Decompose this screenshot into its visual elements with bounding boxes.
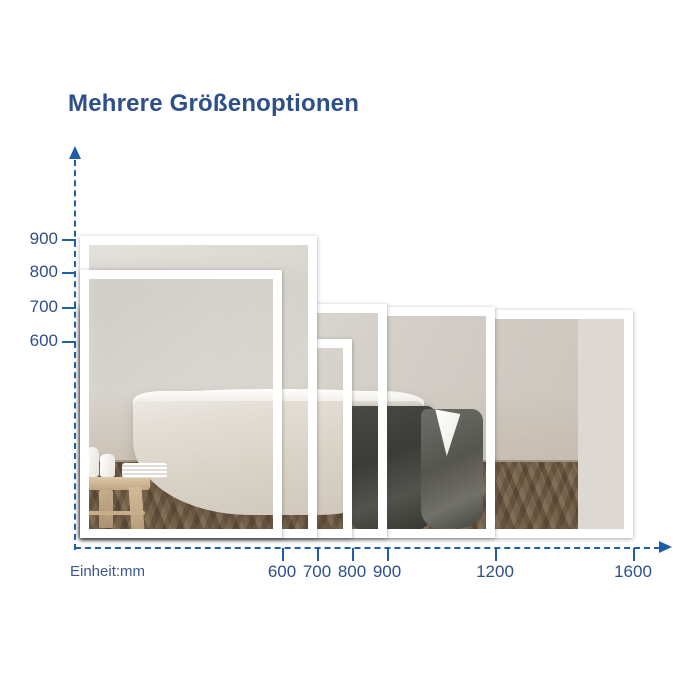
x-tick-1200 — [495, 548, 497, 561]
bathroom-photo — [89, 279, 273, 529]
page-title: Mehrere Größenoptionen — [68, 90, 359, 118]
unit-label: Einheit:mm — [70, 563, 145, 580]
x-tick-1600 — [633, 548, 635, 561]
y-label-800: 800 — [0, 262, 58, 282]
x-tick-900 — [387, 548, 389, 561]
x-label-1600: 1600 — [603, 562, 663, 582]
x-tick-800 — [352, 548, 354, 561]
y-tick-700 — [62, 307, 76, 309]
y-label-600: 600 — [0, 331, 58, 351]
photo-bottle — [100, 454, 115, 477]
photo-stool-leg — [99, 490, 112, 527]
y-axis — [74, 160, 76, 550]
y-tick-600 — [62, 341, 76, 343]
y-axis-arrow-icon — [69, 146, 81, 159]
photo-bottle — [89, 447, 99, 477]
x-tick-600 — [282, 548, 284, 561]
y-tick-900 — [62, 239, 76, 241]
y-tick-800 — [62, 272, 76, 274]
x-label-1200: 1200 — [465, 562, 525, 582]
diagram-canvas: Mehrere Größenoptionen — [0, 0, 700, 700]
panel-photo-600 — [89, 279, 273, 529]
y-label-700: 700 — [0, 297, 58, 317]
x-axis-arrow-icon — [659, 541, 672, 553]
panel-600x800[interactable] — [80, 270, 282, 538]
y-label-900: 900 — [0, 229, 58, 249]
photo-towel-stack — [122, 463, 167, 477]
x-axis — [75, 547, 660, 549]
x-tick-700 — [317, 548, 319, 561]
photo-stool-rung — [89, 511, 145, 515]
photo-dark-towel — [348, 406, 378, 529]
x-label-900: 900 — [357, 562, 417, 582]
